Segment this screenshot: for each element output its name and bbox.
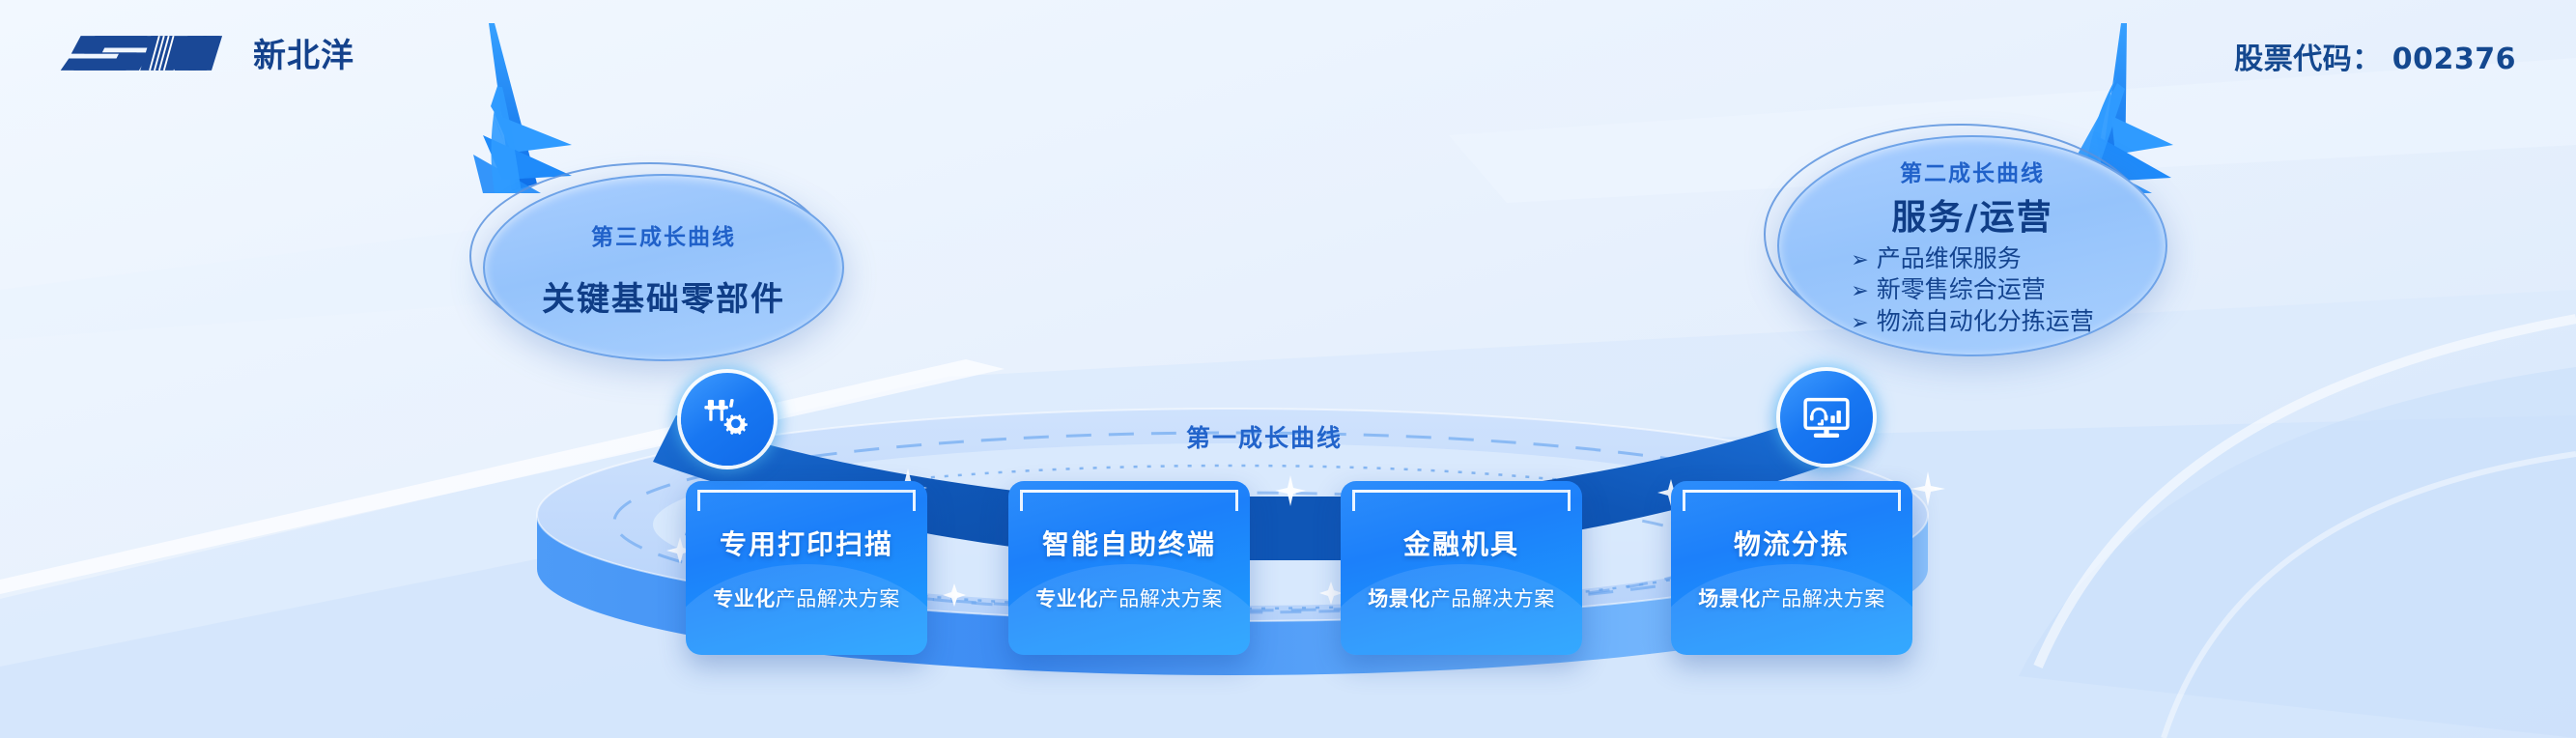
card-subtitle-rest: 产品解决方案 [1430, 587, 1555, 610]
snbc-logo-icon [60, 30, 240, 76]
list-item-label: 产品维保服务 [1877, 244, 2022, 272]
card-subtitle: 专业化产品解决方案 [1035, 583, 1223, 612]
background-decoration [0, 0, 2576, 738]
first-growth-curve-label: 第一成长曲线 [1186, 419, 1343, 454]
arrow-bullet-icon: ➢ [1851, 248, 1868, 272]
card-subtitle-rest: 产品解决方案 [1761, 587, 1885, 610]
arrow-bullet-icon: ➢ [1851, 311, 1868, 335]
card-subtitle-rest: 产品解决方案 [776, 587, 900, 610]
components-gear-icon[interactable] [681, 373, 774, 466]
card-subtitle-strong: 专业化 [1035, 587, 1098, 610]
card-title: 金融机具 [1403, 524, 1519, 562]
list-item-label: 新零售综合运营 [1877, 275, 2046, 303]
product-card[interactable]: 物流分拣 场景化产品解决方案 [1671, 481, 1912, 655]
card-subtitle: 场景化产品解决方案 [1368, 583, 1555, 612]
components-gear-glyph [700, 392, 754, 446]
card-subtitle-strong: 场景化 [1368, 587, 1430, 610]
list-item: ➢新零售综合运营 [1851, 274, 2093, 305]
bubble-item-list: ➢产品维保服务 ➢新零售综合运营 ➢物流自动化分拣运营 [1851, 243, 2093, 336]
brand-logo: 新北洋 [60, 29, 354, 76]
list-item-label: 物流自动化分拣运营 [1877, 307, 2094, 335]
arrow-bullet-icon: ➢ [1851, 279, 1868, 303]
card-subtitle: 场景化产品解决方案 [1698, 583, 1885, 612]
bubble-third-growth-curve[interactable]: 第三成长曲线 关键基础零部件 [483, 174, 844, 361]
product-card[interactable]: 专用打印扫描 专业化产品解决方案 [686, 481, 927, 655]
card-subtitle-rest: 产品解决方案 [1098, 587, 1223, 610]
bubble-title: 服务/运营 [1891, 189, 2052, 240]
brand-name-cn: 新北洋 [253, 29, 354, 76]
product-card[interactable]: 智能自助终端 专业化产品解决方案 [1008, 481, 1250, 655]
card-subtitle: 专业化产品解决方案 [713, 583, 900, 612]
page-header: 新北洋 股票代码： 002376 [0, 0, 2576, 106]
monitor-headset-chart-icon[interactable] [1780, 371, 1873, 464]
card-title: 智能自助终端 [1042, 524, 1216, 562]
infographic-canvas: 新北洋 股票代码： 002376 第三成长曲线 关键基础零部件 第二成长曲线 服… [0, 0, 2576, 738]
list-item: ➢产品维保服务 [1851, 243, 2093, 274]
card-title: 专用打印扫描 [720, 524, 893, 562]
monitor-headset-chart-glyph [1799, 390, 1854, 444]
bubble-second-growth-curve[interactable]: 第二成长曲线 服务/运营 ➢产品维保服务 ➢新零售综合运营 ➢物流自动化分拣运营 [1777, 135, 2167, 356]
stock-code: 股票代码： 002376 [2234, 35, 2516, 77]
card-subtitle-strong: 专业化 [713, 587, 776, 610]
bubble-subtitle: 第二成长曲线 [1900, 155, 2045, 187]
card-title: 物流分拣 [1734, 524, 1850, 562]
bubble-subtitle: 第三成长曲线 [591, 218, 736, 251]
bubble-title: 关键基础零部件 [542, 272, 785, 320]
product-card[interactable]: 金融机具 场景化产品解决方案 [1341, 481, 1582, 655]
card-subtitle-strong: 场景化 [1698, 587, 1761, 610]
list-item: ➢物流自动化分拣运营 [1851, 306, 2093, 337]
